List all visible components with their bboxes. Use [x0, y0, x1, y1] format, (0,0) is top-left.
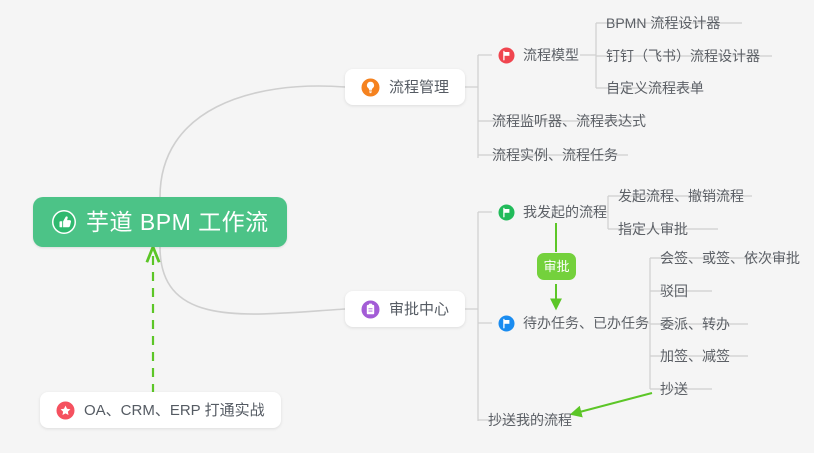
node-my-started-process[interactable]: 我发起的流程 [492, 197, 613, 227]
branch-process-management[interactable]: 流程管理 [345, 69, 465, 105]
node-todo-done-task[interactable]: 待办任务、已办任务 [492, 308, 655, 338]
node-label: 发起流程、撤销流程 [618, 189, 744, 203]
node-label: 加签、减签 [660, 349, 730, 363]
node-delegate-transfer[interactable]: 委派、转办 [654, 309, 736, 339]
node-cc-to-me[interactable]: 抄送我的流程 [482, 405, 578, 435]
node-bpmn-designer[interactable]: BPMN 流程设计器 [600, 8, 726, 38]
node-label: 自定义流程表单 [606, 81, 704, 95]
node-listener-expression[interactable]: 流程监听器、流程表达式 [486, 106, 652, 136]
node-start-cancel[interactable]: 发起流程、撤销流程 [612, 181, 750, 211]
node-add-remove-sign[interactable]: 加签、减签 [654, 341, 736, 371]
node-process-model[interactable]: 流程模型 [492, 40, 585, 70]
flag-icon [498, 315, 515, 332]
node-dingtalk-designer[interactable]: 钉钉（飞书）流程设计器 [600, 41, 766, 71]
node-instance-task[interactable]: 流程实例、流程任务 [486, 140, 624, 170]
node-label: 抄送 [660, 382, 688, 396]
node-label: OA、CRM、ERP 打通实战 [84, 403, 265, 418]
node-label: 待办任务、已办任务 [523, 316, 649, 330]
arrow-cc-to-ccme [572, 393, 652, 414]
branch-label: 审批中心 [389, 302, 449, 317]
node-label: 委派、转办 [660, 317, 730, 331]
node-integration-practice[interactable]: OA、CRM、ERP 打通实战 [40, 392, 281, 428]
node-label: 流程模型 [523, 48, 579, 62]
badge-label: 审批 [544, 260, 570, 273]
node-label: 驳回 [660, 284, 688, 298]
connector-root-to-process-management [160, 86, 345, 197]
node-label: 流程监听器、流程表达式 [492, 114, 646, 128]
mindmap-canvas: 芋道 BPM 工作流 流程管理 流程模型 BPMN 流程设计器 钉钉（飞书）流程 [0, 0, 814, 453]
root-label: 芋道 BPM 工作流 [86, 211, 269, 234]
thumbs-up-icon [51, 209, 77, 235]
node-custom-form[interactable]: 自定义流程表单 [600, 73, 710, 103]
node-label: BPMN 流程设计器 [606, 16, 720, 30]
node-label: 钉钉（飞书）流程设计器 [606, 49, 760, 63]
node-label: 我发起的流程 [523, 205, 607, 219]
branch-label: 流程管理 [389, 80, 449, 95]
node-label: 流程实例、流程任务 [492, 148, 618, 162]
flag-icon [498, 47, 515, 64]
root-node[interactable]: 芋道 BPM 工作流 [33, 197, 287, 247]
node-label: 抄送我的流程 [488, 413, 572, 427]
approval-badge[interactable]: 审批 [537, 253, 576, 280]
branch-approval-center[interactable]: 审批中心 [345, 291, 465, 327]
lightbulb-icon [361, 78, 380, 97]
node-assignee-approval[interactable]: 指定人审批 [612, 214, 694, 244]
node-countersign[interactable]: 会签、或签、依次审批 [654, 243, 806, 273]
node-label: 指定人审批 [618, 222, 688, 236]
connector-root-to-approval-center [160, 247, 345, 314]
node-reject[interactable]: 驳回 [654, 276, 694, 306]
clipboard-icon [361, 300, 380, 319]
node-cc[interactable]: 抄送 [654, 374, 694, 404]
node-label: 会签、或签、依次审批 [660, 251, 800, 265]
flag-icon [498, 204, 515, 221]
star-icon [56, 401, 75, 420]
